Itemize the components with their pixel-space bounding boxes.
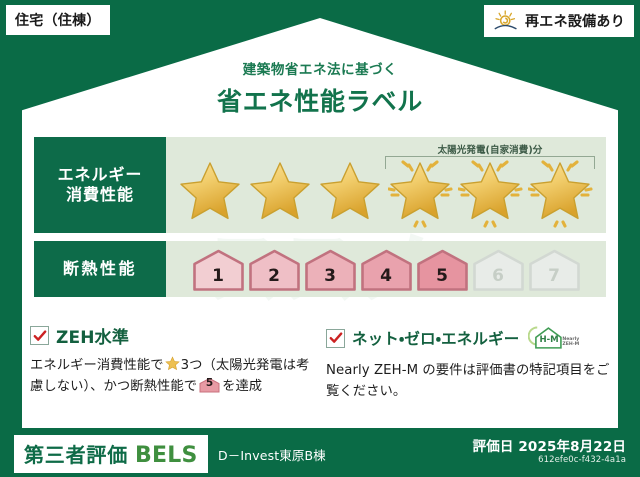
bels-jp-label: 第三者評価 bbox=[24, 439, 128, 468]
zeh-m-logo-icon: H-M Nearly ZEH-M bbox=[528, 323, 582, 353]
insulation-level-number: 6 bbox=[492, 268, 504, 292]
star-icon bbox=[178, 160, 244, 228]
title-subtitle: 建築物省エネ法に基づく bbox=[0, 58, 640, 78]
insulation-level-2: 2 bbox=[248, 248, 301, 292]
inline-star-icon bbox=[165, 356, 180, 371]
footer-bar: 第三者評価 BELS D－Invest東原B棟 評価日 2025年8月22日 6… bbox=[0, 429, 640, 477]
inline-insulation-badge: 5 bbox=[199, 377, 220, 393]
zeh-m-logo-sub1: Nearly bbox=[563, 336, 580, 342]
net-zero-description: Nearly ZEH-M の要件は評価書の特記項目をご覧ください。 bbox=[326, 360, 612, 402]
star-solar-icon bbox=[388, 160, 454, 228]
building-name: D－Invest東原B棟 bbox=[218, 445, 326, 464]
evaluation-id: 612efe0c-f432-4a1a bbox=[538, 455, 626, 465]
energy-performance-label: ススメ 住宅（住棟） 再エネ設備あり 建築物省エネ法に基づく 省エネ性能ラベル … bbox=[0, 0, 640, 477]
solar-bracket-label: 太陽光発電(自家消費)分 bbox=[383, 142, 597, 156]
star-solar bbox=[528, 160, 594, 228]
energy-label-line1: エネルギー bbox=[58, 165, 143, 185]
insulation-level-7: 7 bbox=[528, 248, 581, 292]
zeh-text-a: エネルギー消費性能で bbox=[30, 358, 164, 373]
evaluation-date: 評価日 2025年8月22日 bbox=[473, 435, 626, 455]
insulation-level-6: 6 bbox=[472, 248, 525, 292]
zeh-description: エネルギー消費性能で3つ（太陽光発電は考慮しない）、かつ断熱性能で5を達成 bbox=[30, 355, 314, 397]
zeh-m-logo-text: H-M bbox=[540, 335, 559, 345]
zeh-heading: ZEH水準 bbox=[56, 323, 129, 348]
check-icon bbox=[329, 331, 343, 345]
insulation-level-5: 5 bbox=[416, 248, 469, 292]
bels-en-label: BELS bbox=[135, 443, 198, 468]
insulation-performance-row: 断熱性能 1234567 bbox=[34, 241, 606, 297]
zeh-checkbox bbox=[30, 326, 49, 345]
energy-label-line2: 消費性能 bbox=[66, 185, 134, 205]
renewable-energy-chip: 再エネ設備あり bbox=[484, 5, 634, 37]
insulation-level-number: 3 bbox=[324, 268, 336, 292]
star-solar bbox=[388, 160, 454, 228]
insulation-rating-area: 1234567 bbox=[166, 241, 606, 297]
check-icon bbox=[33, 329, 47, 343]
net-zero-heading: ネット・ゼロ・エネルギー bbox=[352, 327, 519, 349]
zeh-m-logo-sub2: ZEH-M bbox=[563, 341, 580, 347]
net-zero-energy-section: ネット・ゼロ・エネルギー H-M Nearly ZEH-M Nearly ZEH… bbox=[326, 323, 612, 402]
star-solar-icon bbox=[528, 160, 594, 228]
energy-performance-row: エネルギー 消費性能 太陽光発電(自家消費)分 bbox=[34, 137, 606, 233]
insulation-level-number: 2 bbox=[268, 268, 280, 292]
bels-badge: 第三者評価 BELS bbox=[14, 435, 208, 473]
zeh-heading-row: ZEH水準 bbox=[30, 323, 314, 348]
title-block: 建築物省エネ法に基づく 省エネ性能ラベル bbox=[0, 58, 640, 118]
category-chip-label: 住宅（住棟） bbox=[15, 10, 101, 30]
insulation-level-number: 5 bbox=[436, 268, 448, 292]
net-zero-heading-row: ネット・ゼロ・エネルギー H-M Nearly ZEH-M bbox=[326, 323, 612, 353]
star-icon bbox=[318, 160, 384, 228]
inline-house-num: 5 bbox=[199, 377, 220, 393]
insulation-performance-label: 断熱性能 bbox=[34, 241, 166, 297]
star-solar bbox=[458, 160, 524, 228]
net-zero-checkbox bbox=[326, 329, 345, 348]
star-base bbox=[178, 160, 244, 228]
star-base bbox=[318, 160, 384, 228]
insulation-level-4: 4 bbox=[360, 248, 413, 292]
insulation-level-number: 1 bbox=[212, 268, 224, 292]
insulation-level-number: 7 bbox=[548, 268, 560, 292]
zeh-text-c: を達成 bbox=[222, 379, 262, 394]
star-base bbox=[248, 160, 314, 228]
energy-performance-label: エネルギー 消費性能 bbox=[34, 137, 166, 233]
zeh-standard-section: ZEH水準 エネルギー消費性能で3つ（太陽光発電は考慮しない）、かつ断熱性能で5… bbox=[30, 323, 314, 397]
energy-rating-area: 太陽光発電(自家消費)分 bbox=[166, 137, 606, 233]
sun-solar-icon bbox=[493, 10, 519, 32]
insulation-level-1: 1 bbox=[192, 248, 245, 292]
page-title: 省エネ性能ラベル bbox=[0, 82, 640, 118]
insulation-level-3: 3 bbox=[304, 248, 357, 292]
star-icon bbox=[248, 160, 314, 228]
insulation-level-number: 4 bbox=[380, 268, 392, 292]
category-chip: 住宅（住棟） bbox=[6, 5, 110, 35]
insulation-label-text: 断熱性能 bbox=[63, 259, 137, 279]
renewable-chip-label: 再エネ設備あり bbox=[525, 11, 625, 31]
star-solar-icon bbox=[458, 160, 524, 228]
star-rating-strip bbox=[166, 160, 606, 230]
insulation-level-strip: 1234567 bbox=[166, 248, 606, 295]
